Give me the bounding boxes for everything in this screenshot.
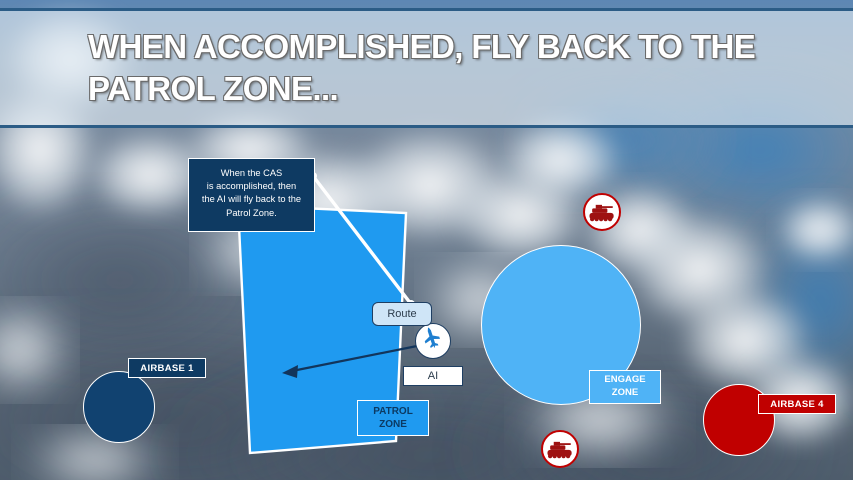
airbase-4-label[interactable]: AIRBASE 4 bbox=[758, 394, 836, 414]
patrol-zone-label[interactable]: PATROL ZONE bbox=[357, 400, 429, 436]
tank-icon[interactable] bbox=[583, 193, 621, 231]
engage-zone-label[interactable]: ENGAGE ZONE bbox=[589, 370, 661, 404]
tank-icon[interactable] bbox=[541, 430, 579, 468]
route-label[interactable]: Route bbox=[372, 302, 432, 326]
slide-canvas: WHEN ACCOMPLISHED, FLY BACK TO THE PATRO… bbox=[0, 0, 853, 480]
callout-box: When the CAS is accomplished, then the A… bbox=[188, 158, 315, 232]
airbase-1-marker bbox=[83, 371, 155, 443]
page-title: WHEN ACCOMPLISHED, FLY BACK TO THE PATRO… bbox=[88, 26, 788, 110]
ai-label[interactable]: AI bbox=[403, 366, 463, 386]
airbase-1-label[interactable]: AIRBASE 1 bbox=[128, 358, 206, 378]
fighter-jet-icon[interactable] bbox=[415, 323, 451, 359]
